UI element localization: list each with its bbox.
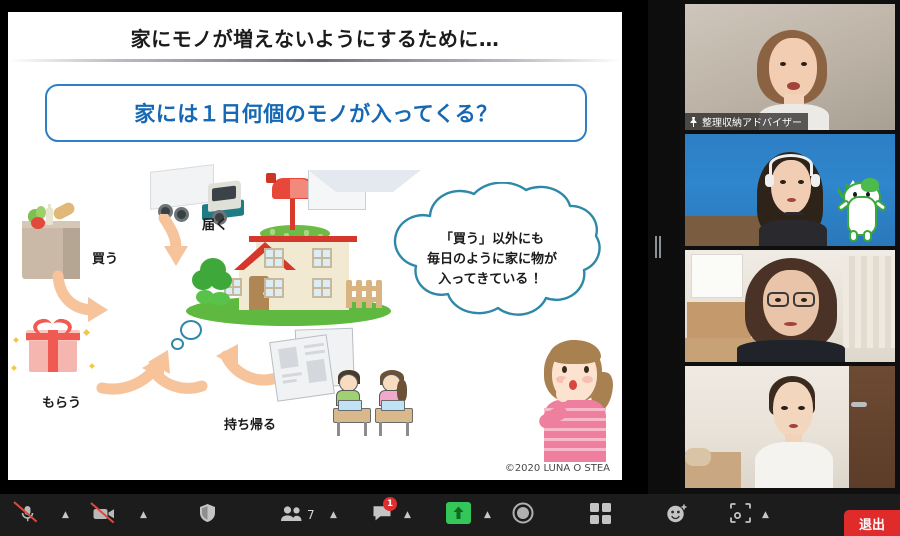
chat-button[interactable]: 1 <box>372 494 392 536</box>
video-tile-2[interactable] <box>685 134 895 246</box>
reactions-icon <box>666 503 688 528</box>
mute-button[interactable] <box>18 494 37 536</box>
participants-options-button[interactable]: ▲ <box>330 494 337 536</box>
chevron-up-icon: ▲ <box>62 511 69 520</box>
chevron-up-icon: ▲ <box>404 511 411 520</box>
shield-icon <box>198 503 217 527</box>
shared-screen-area[interactable]: 家にモノが増えないようにするために… 家には１日何個のモノが入ってくる？ <box>0 0 648 494</box>
breakout-rooms-button[interactable] <box>590 494 611 536</box>
participants-icon <box>280 505 304 526</box>
chevron-up-icon: ▲ <box>330 511 337 520</box>
participants-button[interactable]: 7 <box>280 494 315 536</box>
slide-title-bar: 家にモノが増えないようにするために… <box>8 12 622 62</box>
question-box: 家には１日何個のモノが入ってくる？ <box>45 84 587 142</box>
microphone-muted-icon <box>18 504 37 527</box>
slide-illustration-canvas: 買う もらう <box>8 152 622 480</box>
start-video-button[interactable] <box>92 494 116 536</box>
share-screen-button[interactable] <box>446 494 471 536</box>
record-icon <box>512 502 534 528</box>
chat-options-button[interactable]: ▲ <box>404 494 411 536</box>
thought-bubble: 「買う」以外にも毎日のように家に物が入ってきている ！ <box>370 182 615 354</box>
presentation-slide: 家にモノが増えないようにするために… 家には１日何個のモノが入ってくる？ <box>8 12 622 480</box>
participant-video-strip: 整理収納アドバイザー <box>680 0 900 494</box>
video-tile-3[interactable] <box>685 250 895 362</box>
video-off-icon <box>92 504 116 527</box>
title-divider <box>8 59 622 62</box>
chevron-up-icon: ▲ <box>762 511 769 520</box>
video-options-button[interactable]: ▲ <box>140 494 147 536</box>
apps-options-button[interactable]: ▲ <box>762 494 769 536</box>
students-illustration <box>333 364 417 426</box>
record-button[interactable] <box>512 494 534 536</box>
tile-1-face <box>769 38 817 100</box>
grocery-bag-icon <box>22 207 80 279</box>
panel-drag-handle[interactable] <box>655 236 663 258</box>
chevron-up-icon: ▲ <box>484 511 491 520</box>
envelope-icon <box>308 170 366 210</box>
chat-icon: 1 <box>372 504 392 526</box>
reactions-button[interactable] <box>666 494 688 536</box>
breakout-rooms-icon <box>590 503 611 528</box>
video-tile-4[interactable] <box>685 366 895 488</box>
chat-unread-badge: 1 <box>383 497 397 511</box>
meeting-stage: 家にモノが増えないようにするために… 家には１日何個のモノが入ってくる？ <box>0 0 900 494</box>
house-illustration <box>186 220 391 332</box>
thought-bubble-text: 「買う」以外にも毎日のように家に物が入ってきている ！ <box>392 230 592 290</box>
arrow-kids-to-house <box>136 348 208 394</box>
apps-icon <box>730 503 751 527</box>
slide-title: 家にモノが増えないようにするために… <box>8 23 622 52</box>
tile-1-name: 整理収納アドバイザー <box>702 114 802 129</box>
arrow-buy-to-house <box>50 270 112 322</box>
thinking-woman-illustration <box>532 334 618 462</box>
chevron-up-icon: ▲ <box>140 511 147 520</box>
copyright-text: ©2020 LUNA O STEA <box>505 463 610 474</box>
security-button[interactable] <box>198 494 217 536</box>
leave-meeting-button[interactable]: 退出 <box>844 510 900 536</box>
participants-count: 7 <box>307 508 315 522</box>
label-bring-home: 持ち帰る <box>224 414 276 433</box>
tile-1-namebar: 整理収納アドバイザー <box>685 113 808 130</box>
thought-dot-large <box>180 320 202 340</box>
mic-options-button[interactable]: ▲ <box>62 494 69 536</box>
pin-icon <box>689 117 698 127</box>
zoom-meeting-window: 家にモノが増えないようにするために… 家には１日何個のモノが入ってくる？ <box>0 0 900 536</box>
label-buy: 買う <box>92 248 118 267</box>
share-options-button[interactable]: ▲ <box>484 494 491 536</box>
thought-dot-small <box>171 338 184 350</box>
cat-mascot-sticker <box>837 180 889 242</box>
share-screen-icon <box>446 502 471 528</box>
video-tile-1[interactable]: 整理収納アドバイザー <box>685 4 895 130</box>
question-text: 家には１日何個のモノが入ってくる？ <box>134 98 497 128</box>
apps-button[interactable] <box>730 494 751 536</box>
tree-icon <box>190 258 236 308</box>
gift-box-icon <box>26 324 80 372</box>
meeting-toolbar: ▲ ▲ <box>0 494 900 536</box>
label-receive: もらう <box>42 392 81 411</box>
